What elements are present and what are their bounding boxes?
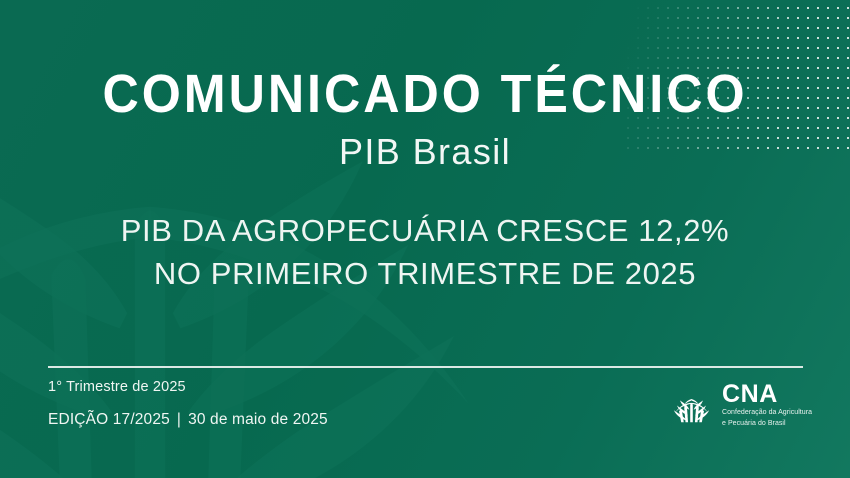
page-title: COMUNICADO TÉCNICO <box>30 66 821 122</box>
meta-separator: | <box>170 411 188 428</box>
headline-line-1: PIB DA AGROPECUÁRIA CRESCE 12,2% <box>0 210 850 253</box>
cna-logo: CNA Confederação da Agricultura e Pecuár… <box>670 382 812 429</box>
report-cover: COMUNICADO TÉCNICO PIB Brasil PIB DA AGR… <box>0 0 850 478</box>
meta-edition: EDIÇÃO 17/2025 <box>48 411 170 428</box>
meta-period: 1° Trimestre de 2025 <box>48 380 568 395</box>
title-block: COMUNICADO TÉCNICO PIB Brasil <box>0 66 850 172</box>
meta-edition-line: EDIÇÃO 17/2025|30 de maio de 2025 <box>48 412 568 428</box>
cna-logo-tagline-2: e Pecuária do Brasil <box>722 420 812 429</box>
cna-logo-text: CNA Confederação da Agricultura e Pecuár… <box>722 382 812 429</box>
headline-line-2: NO PRIMEIRO TRIMESTRE DE 2025 <box>0 253 850 296</box>
meta-block: 1° Trimestre de 2025 EDIÇÃO 17/2025|30 d… <box>48 376 568 427</box>
cna-logo-name: CNA <box>722 382 812 407</box>
cna-plant-icon <box>670 384 713 427</box>
cover-content: COMUNICADO TÉCNICO PIB Brasil PIB DA AGR… <box>0 0 850 478</box>
page-subtitle: PIB Brasil <box>0 132 850 172</box>
headline-block: PIB DA AGROPECUÁRIA CRESCE 12,2% NO PRIM… <box>0 210 850 296</box>
meta-date: 30 de maio de 2025 <box>188 411 328 428</box>
cna-logo-tagline-1: Confederação da Agricultura <box>722 409 812 418</box>
divider <box>48 366 803 368</box>
